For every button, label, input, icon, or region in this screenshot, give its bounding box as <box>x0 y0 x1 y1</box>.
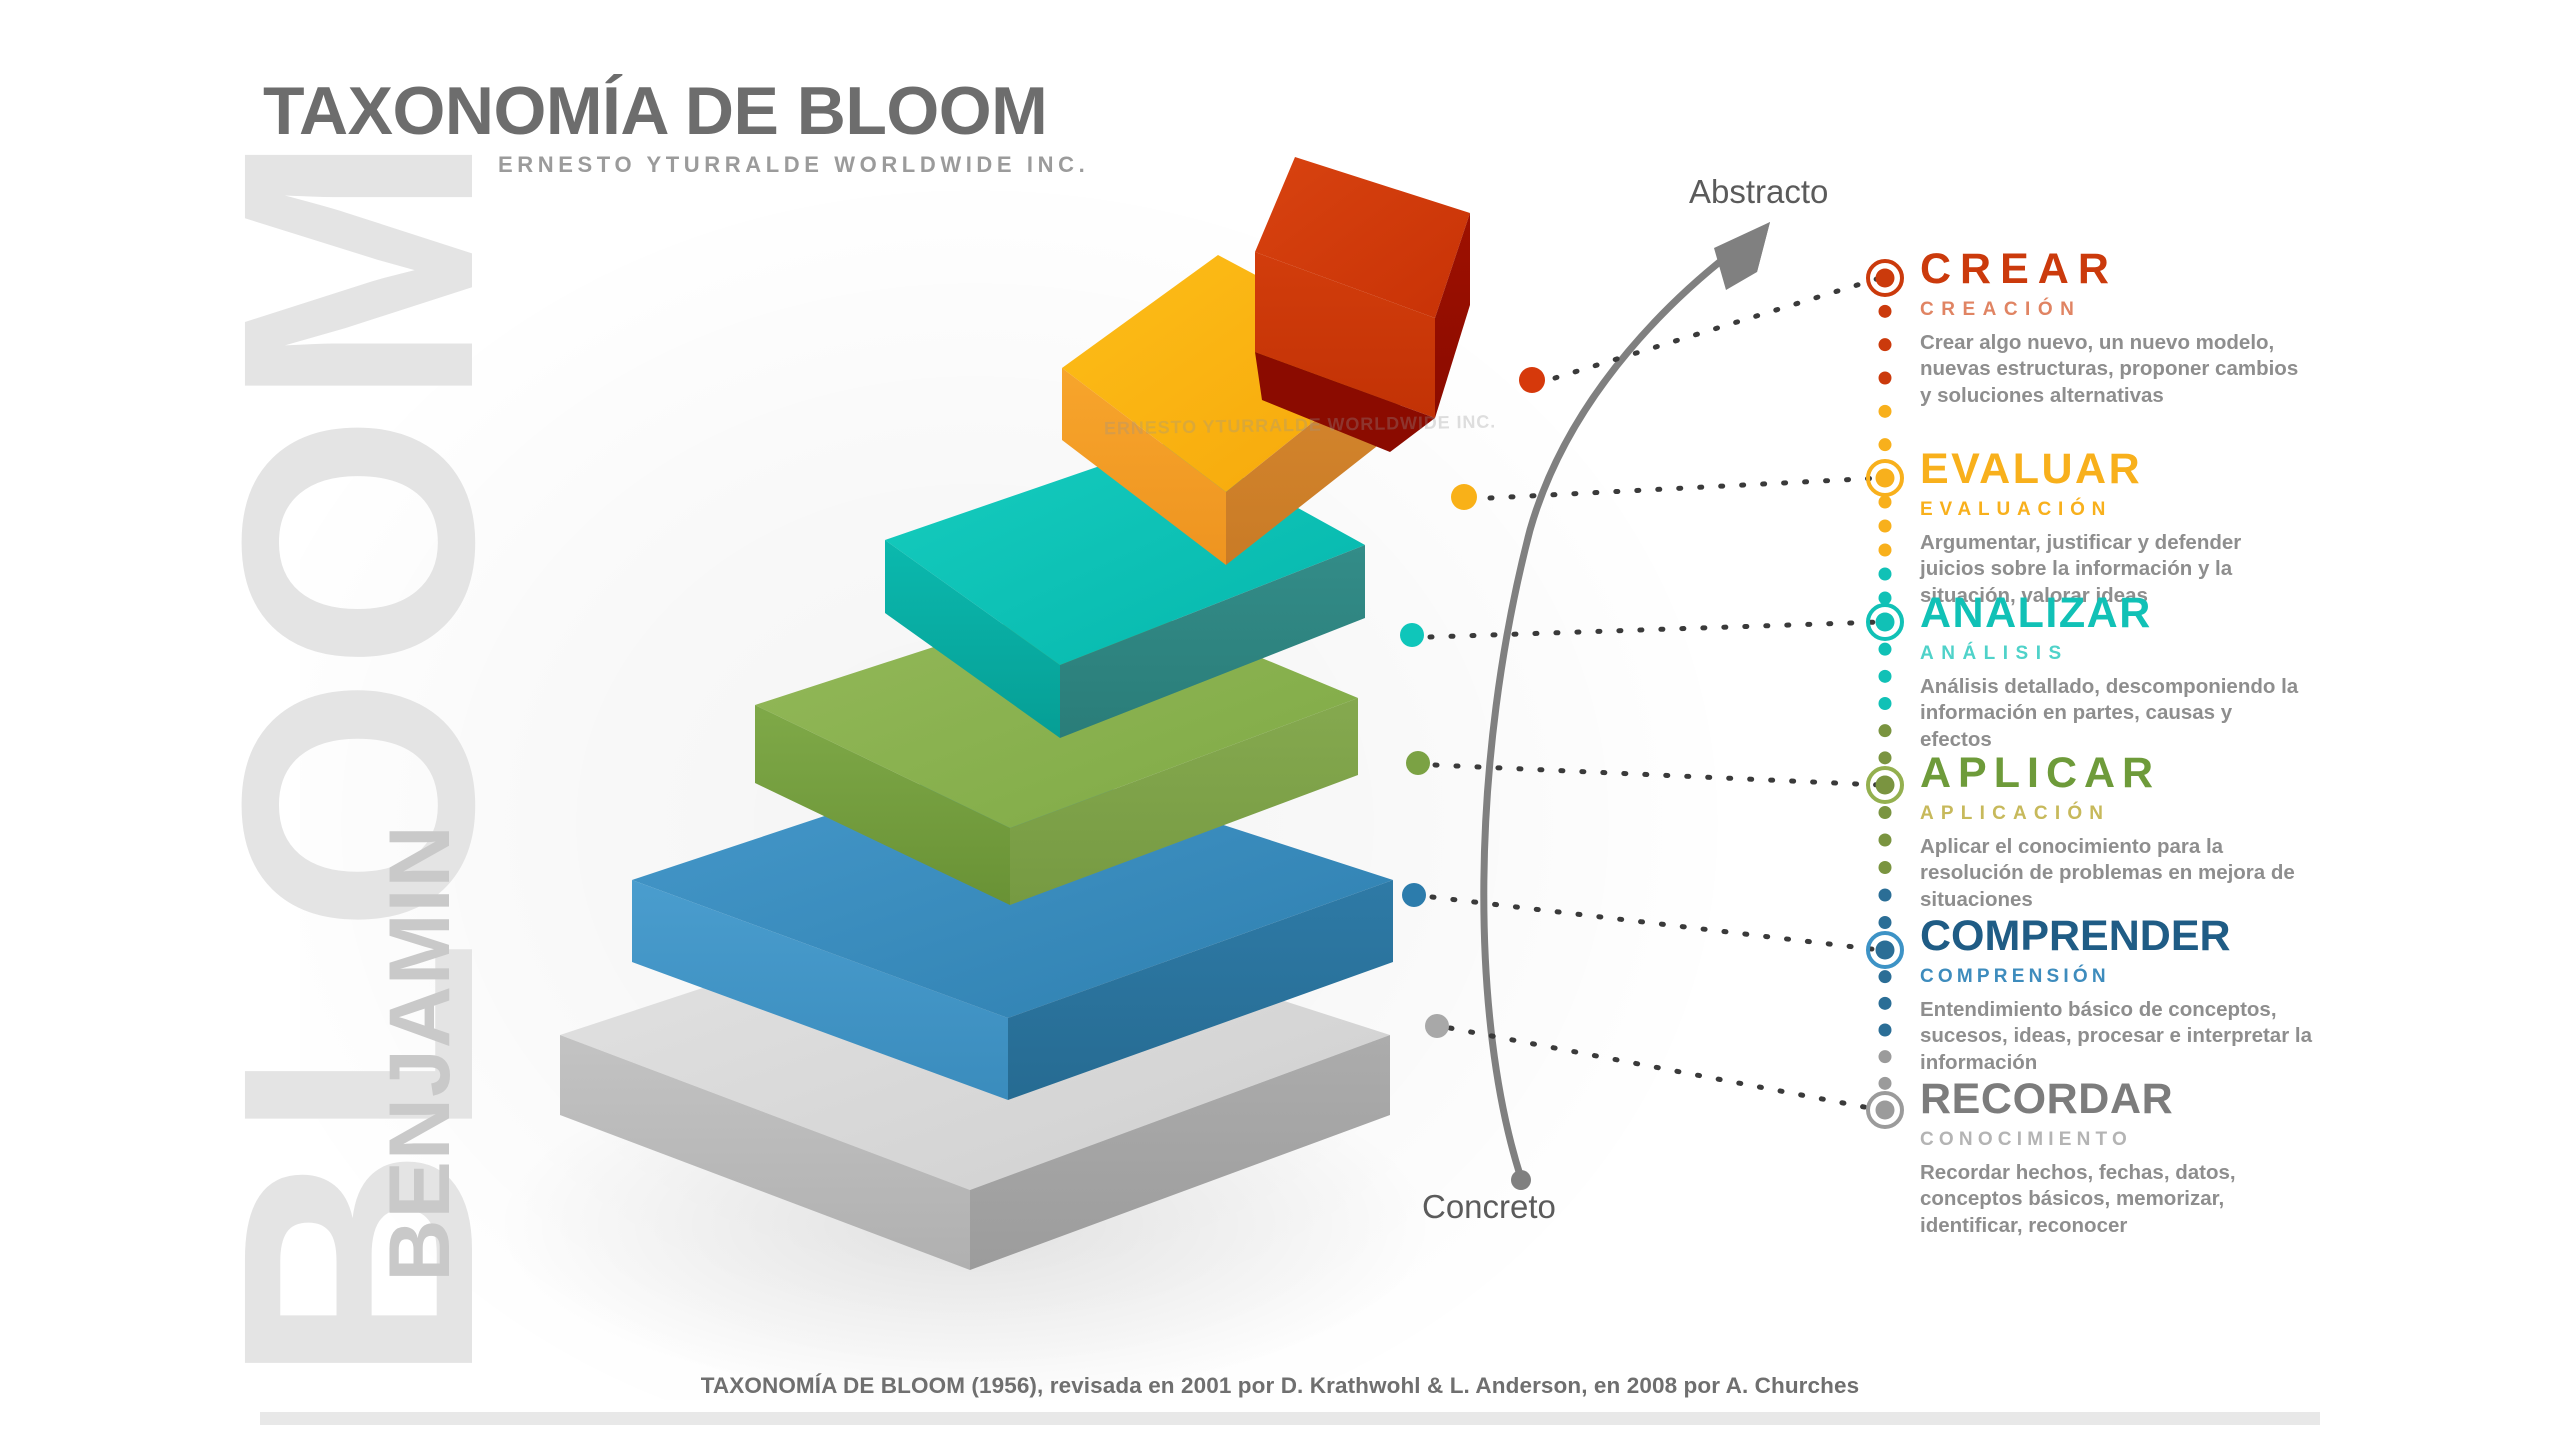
level-block-crear[interactable]: CREARCREACIÓNCrear algo nuevo, un nuevo … <box>1920 248 2320 409</box>
axis-label-abstracto: Abstracto <box>1689 173 1828 211</box>
level-description-analizar: Análisis detallado, descomponiendo lainf… <box>1920 674 2320 753</box>
level-marker-dot <box>1879 724 1892 737</box>
level-marker-column <box>1868 261 1902 1127</box>
level-marker-core-crear <box>1876 269 1895 288</box>
level-description-line: identificar, reconocer <box>1920 1213 2320 1239</box>
level-marker-dot <box>1879 568 1892 581</box>
level-description-line: situaciones <box>1920 887 2320 913</box>
level-subtitle-evaluar: EVALUACIÓN <box>1920 500 2320 519</box>
level-description-comprender: Entendimiento básico de conceptos,suceso… <box>1920 997 2320 1076</box>
level-marker-core-comprender <box>1876 941 1895 960</box>
level-title-crear: CREAR <box>1920 248 2320 291</box>
level-marker-dot <box>1879 1024 1892 1037</box>
level-marker-dot <box>1879 751 1892 764</box>
level-marker-dot <box>1879 997 1892 1010</box>
level-description-line: información en partes, causas y <box>1920 700 2320 726</box>
level-subtitle-comprender: COMPRENSIÓN <box>1920 967 2320 986</box>
level-description-line: nuevas estructuras, proponer cambios <box>1920 356 2320 382</box>
level-description-line: juicios sobre la información y la <box>1920 556 2320 582</box>
level-description-line: Entendimiento básico de conceptos, <box>1920 997 2320 1023</box>
level-marker-dot <box>1879 496 1892 509</box>
level-marker-dot <box>1879 405 1892 418</box>
level-subtitle-recordar: CONOCIMIENTO <box>1920 1130 2320 1149</box>
leader-line-aplicar <box>1435 765 1880 785</box>
level-title-comprender: COMPRENDER <box>1920 915 2320 958</box>
level-description-line: Análisis detallado, descomponiendo la <box>1920 674 2320 700</box>
level-block-evaluar[interactable]: EVALUAREVALUACIÓNArgumentar, justificar … <box>1920 448 2320 609</box>
level-block-comprender[interactable]: COMPRENDERCOMPRENSIÓNEntendimiento básic… <box>1920 915 2320 1076</box>
level-title-recordar: RECORDAR <box>1920 1078 2320 1121</box>
level-description-line: y soluciones alternativas <box>1920 383 2320 409</box>
level-marker-dot <box>1879 1050 1892 1063</box>
level-description-line: resolución de problemas en mejora de <box>1920 860 2320 886</box>
leader-dot-analizar <box>1400 623 1424 647</box>
level-marker-dot <box>1879 670 1892 683</box>
leader-origin-dots <box>1400 367 1545 1038</box>
level-description-line: sucesos, ideas, procesar e interpretar l… <box>1920 1023 2320 1049</box>
footer-divider-bar <box>260 1412 2320 1425</box>
leader-dot-crear <box>1519 367 1545 393</box>
level-description-line: conceptos básicos, memorizar, <box>1920 1186 2320 1212</box>
level-marker-dot <box>1879 834 1892 847</box>
leader-dot-aplicar <box>1406 751 1430 775</box>
level-marker-dot <box>1879 1077 1892 1090</box>
level-block-recordar[interactable]: RECORDARCONOCIMIENTORecordar hechos, fec… <box>1920 1078 2320 1239</box>
level-block-analizar[interactable]: ANALIZARANÁLISISAnálisis detallado, desc… <box>1920 592 2320 753</box>
level-block-aplicar[interactable]: APLICARAPLICACIÓNAplicar el conocimiento… <box>1920 752 2320 913</box>
level-description-line: Recordar hechos, fechas, datos, <box>1920 1160 2320 1186</box>
level-marker-core-evaluar <box>1876 469 1895 488</box>
level-marker-dot <box>1879 889 1892 902</box>
level-marker-dot <box>1879 592 1892 605</box>
leader-dot-comprender <box>1402 883 1426 907</box>
infographic-canvas: BLOOM BENJAMIN TAXONOMÍA DE BLOOM ERNEST… <box>0 0 2560 1440</box>
abstract-concrete-arrow <box>1484 222 1770 1190</box>
level-marker-core-analizar <box>1876 613 1895 632</box>
level-subtitle-analizar: ANÁLISIS <box>1920 644 2320 663</box>
level-description-recordar: Recordar hechos, fechas, datos,conceptos… <box>1920 1160 2320 1239</box>
leader-line-analizar <box>1430 622 1880 637</box>
level-marker-dot <box>1879 970 1892 983</box>
level-title-aplicar: APLICAR <box>1920 752 2320 795</box>
level-marker-dot <box>1879 806 1892 819</box>
level-marker-dot <box>1879 520 1892 533</box>
level-description-line: información <box>1920 1050 2320 1076</box>
level-marker-dot <box>1879 916 1892 929</box>
level-subtitle-aplicar: APLICACIÓN <box>1920 804 2320 823</box>
level-marker-dot <box>1879 544 1892 557</box>
level-description-line: Argumentar, justificar y defender <box>1920 530 2320 556</box>
level-marker-dot <box>1879 861 1892 874</box>
axis-label-concreto: Concreto <box>1422 1188 1556 1226</box>
leader-dot-evaluar <box>1451 484 1477 510</box>
leader-line-recordar <box>1450 1028 1880 1110</box>
level-marker-dot <box>1879 305 1892 318</box>
level-title-analizar: ANALIZAR <box>1920 592 2320 635</box>
level-marker-dot <box>1879 697 1892 710</box>
level-marker-core-aplicar <box>1876 776 1895 795</box>
pyramid-slab-crear <box>1255 157 1470 452</box>
level-marker-dot <box>1879 438 1892 451</box>
leader-line-crear <box>1555 278 1880 378</box>
level-marker-core-recordar <box>1876 1101 1895 1120</box>
leader-line-comprender <box>1432 897 1880 950</box>
leader-dot-recordar <box>1425 1014 1449 1038</box>
level-description-line: Crear algo nuevo, un nuevo modelo, <box>1920 330 2320 356</box>
level-title-evaluar: EVALUAR <box>1920 448 2320 491</box>
level-marker-dot <box>1879 338 1892 351</box>
level-description-line: Aplicar el conocimiento para la <box>1920 834 2320 860</box>
level-marker-dot <box>1879 643 1892 656</box>
footer-attribution: TAXONOMÍA DE BLOOM (1956), revisada en 2… <box>0 1373 2560 1399</box>
level-marker-dot <box>1879 372 1892 385</box>
level-description-crear: Crear algo nuevo, un nuevo modelo,nuevas… <box>1920 330 2320 409</box>
level-subtitle-crear: CREACIÓN <box>1920 300 2320 319</box>
level-description-aplicar: Aplicar el conocimiento para laresolució… <box>1920 834 2320 913</box>
